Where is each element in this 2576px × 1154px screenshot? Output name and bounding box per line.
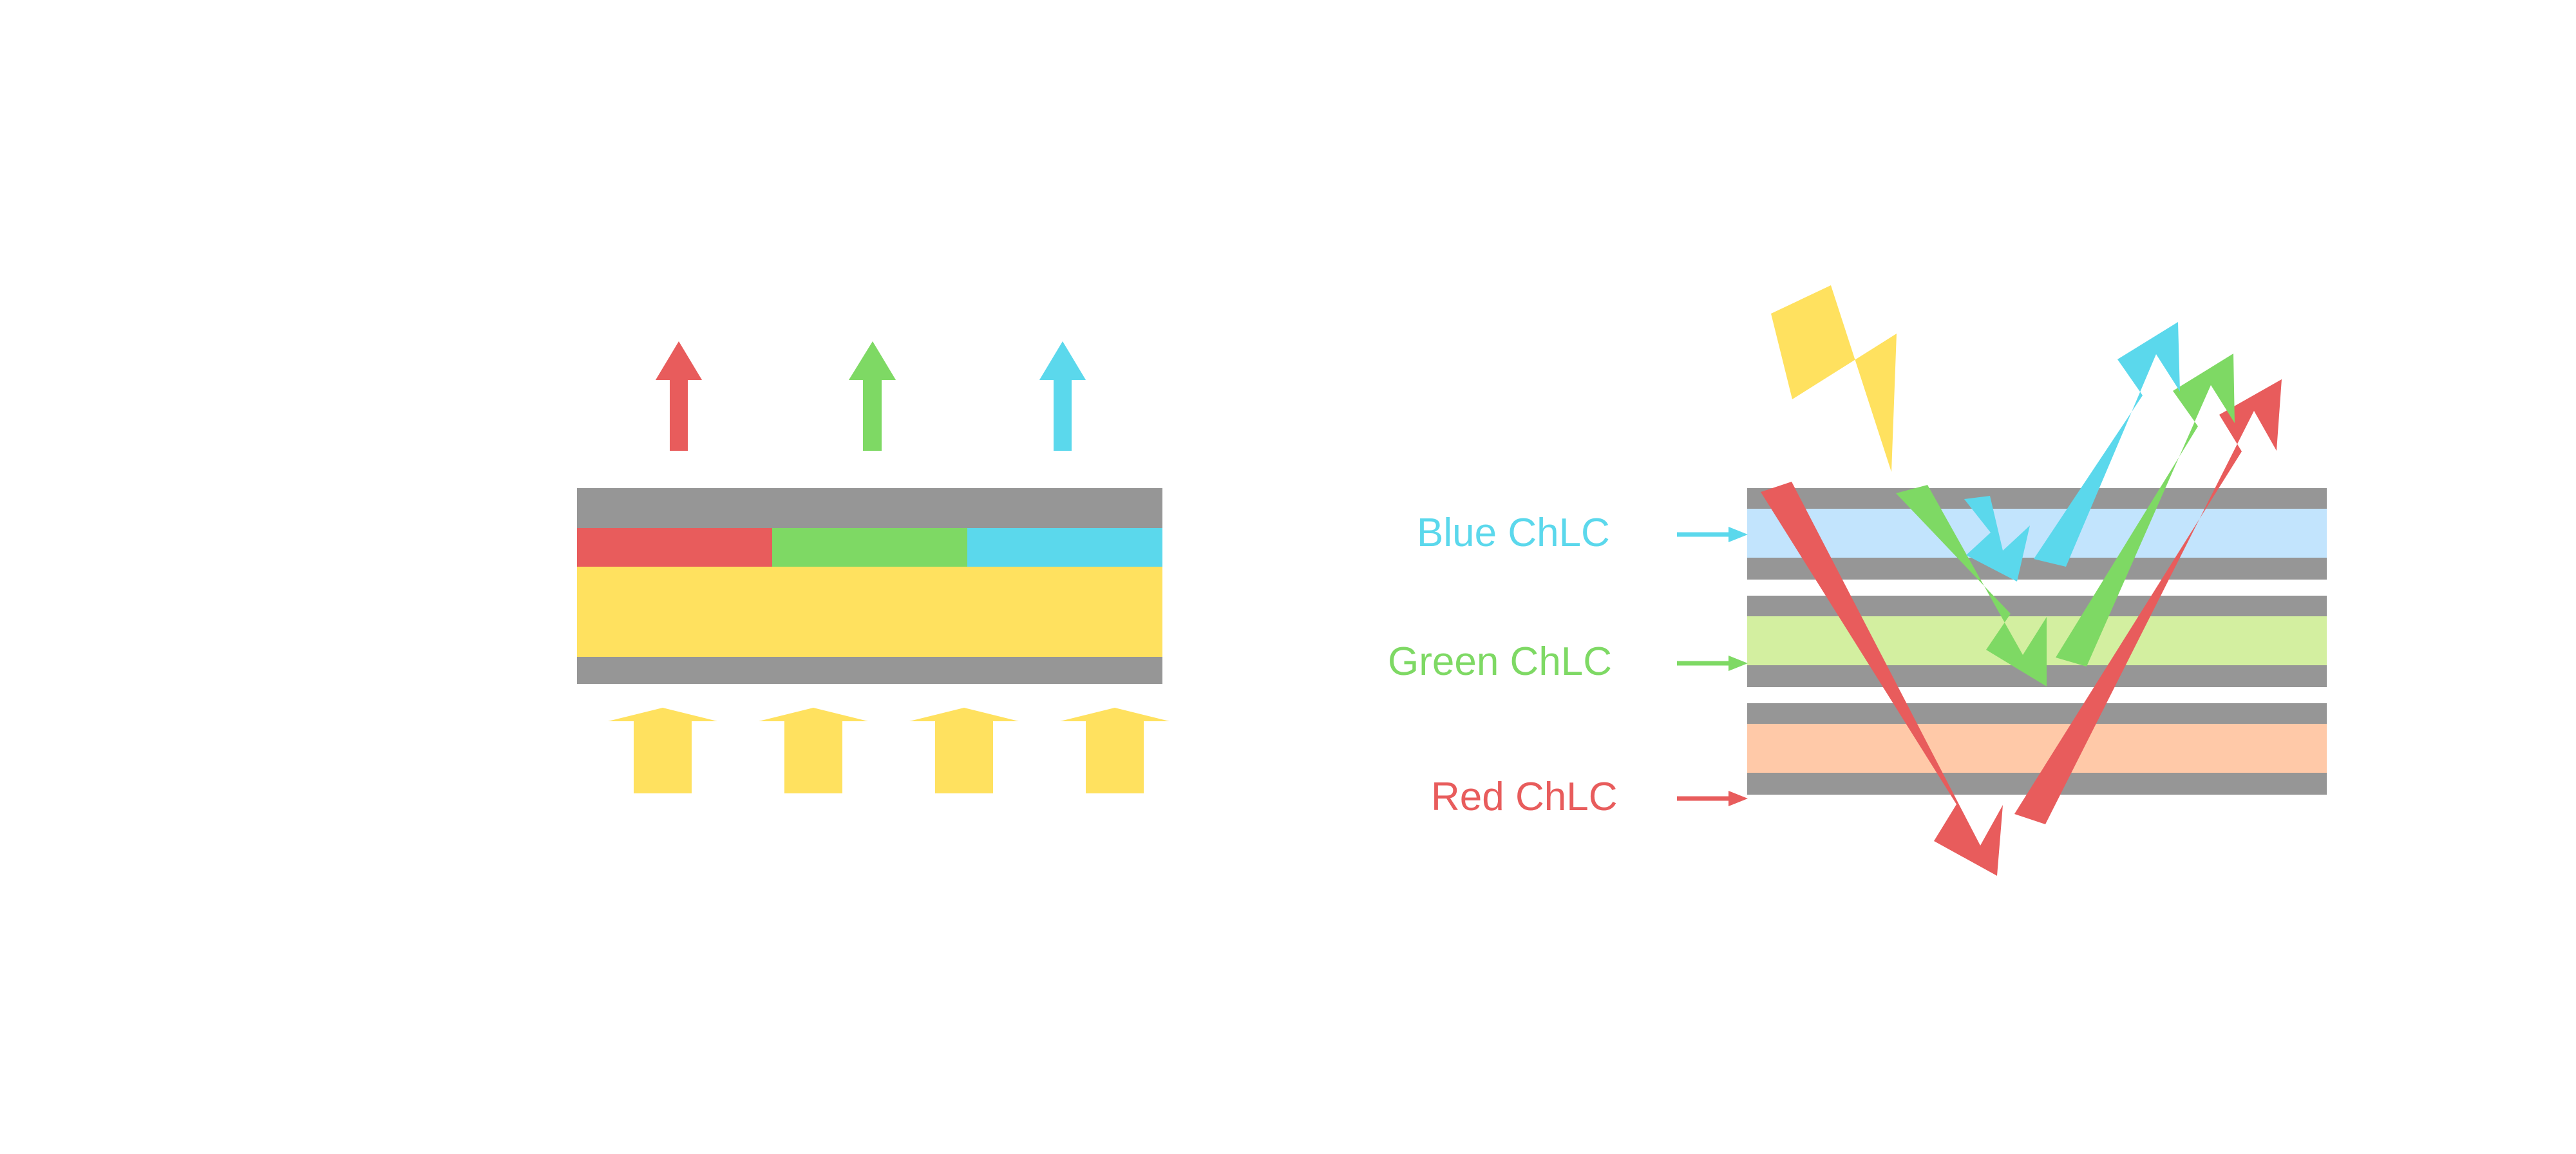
green-label-arrow-icon [1677,656,1748,671]
ambient-light-arrow [1771,285,1897,472]
green-chlc-label: Green ChLC [1388,639,1612,684]
red-label-arrow-icon [1677,791,1748,806]
diagram-svg: Blue ChLC Green ChLC Red ChLC [0,0,2576,1154]
green-chlc-label-group: Green ChLC [1388,639,1748,684]
red-filter-segment [577,528,772,567]
red-chlc-layer [1747,724,2327,773]
left-panel-group [577,341,1170,793]
red-emitted-arrow [656,341,702,451]
blue-chlc-label-group: Blue ChLC [1417,511,1748,555]
red-chlc-label: Red ChLC [1431,775,1617,819]
cyan-emitted-arrow [1039,341,1086,451]
backlight-arrow-3 [909,708,1019,793]
bottom-electrode-layer [577,657,1162,684]
top-electrode-layer [577,488,1162,528]
diagram-canvas: Blue ChLC Green ChLC Red ChLC [0,0,2576,1154]
blue-chlc-label: Blue ChLC [1417,511,1610,555]
red-chlc-label-group: Red ChLC [1431,775,1748,819]
right-panel-group: Blue ChLC Green ChLC Red ChLC [1388,285,2327,876]
green-emitted-arrow [849,341,896,451]
green-filter-segment [772,528,967,567]
blue-label-arrow-icon [1677,527,1748,542]
backlight-arrow-4 [1060,708,1170,793]
backlight-layer [577,567,1162,657]
blue-chlc-layer [1747,509,2327,558]
backlight-arrow-1 [608,708,717,793]
red-cell-top-electrode [1747,703,2327,724]
blue-cell-top-electrode [1747,488,2327,509]
cyan-filter-segment [967,528,1162,567]
backlight-arrow-2 [759,708,868,793]
